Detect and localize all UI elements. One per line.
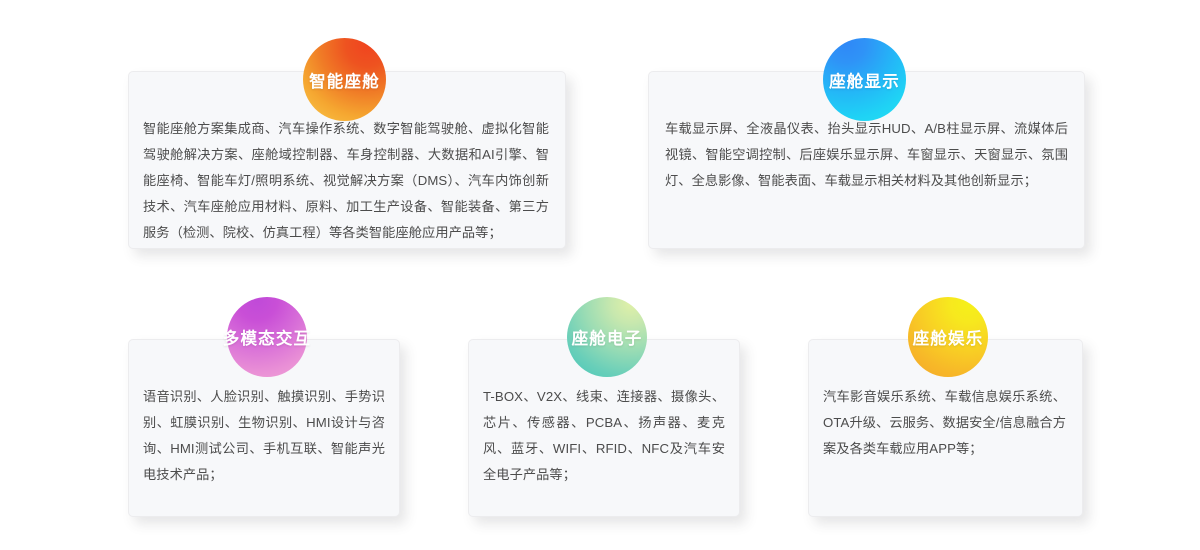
cockpit-categories-board: 智能座舱方案集成商、汽车操作系统、数字智能驾驶舱、虚拟化智能驾驶舱解决方案、座舱… (0, 0, 1200, 550)
category-description-cockpit-electronics: T-BOX、V2X、线束、连接器、摄像头、芯片、传感器、PCBA、扬声器、麦克风… (483, 384, 725, 488)
category-badge-cockpit-entertainment[interactable]: 座舱娱乐 (908, 297, 988, 377)
category-description-smart-cockpit: 智能座舱方案集成商、汽车操作系统、数字智能驾驶舱、虚拟化智能驾驶舱解决方案、座舱… (143, 116, 549, 246)
category-badge-smart-cockpit[interactable]: 智能座舱 (303, 38, 386, 121)
category-badge-cockpit-display[interactable]: 座舱显示 (823, 38, 906, 121)
category-badge-cockpit-electronics[interactable]: 座舱电子 (567, 297, 647, 377)
category-badge-label-multimodal: 多模态交互 (223, 325, 312, 349)
category-badge-label-cockpit-electronics: 座舱电子 (572, 325, 643, 349)
category-badge-multimodal[interactable]: 多模态交互 (227, 297, 307, 377)
category-description-multimodal: 语音识别、人脸识别、触摸识别、手势识别、虹膜识别、生物识别、HMI设计与咨询、H… (143, 384, 385, 488)
category-description-cockpit-entertainment: 汽车影音娱乐系统、车载信息娱乐系统、OTA升级、云服务、数据安全/信息融合方案及… (823, 384, 1066, 462)
category-badge-label-cockpit-display: 座舱显示 (829, 68, 900, 92)
category-description-cockpit-display: 车载显示屏、全液晶仪表、抬头显示HUD、A/B柱显示屏、流媒体后视镜、智能空调控… (665, 116, 1068, 194)
category-badge-label-smart-cockpit: 智能座舱 (309, 68, 380, 92)
category-badge-label-cockpit-entertainment: 座舱娱乐 (913, 325, 984, 349)
